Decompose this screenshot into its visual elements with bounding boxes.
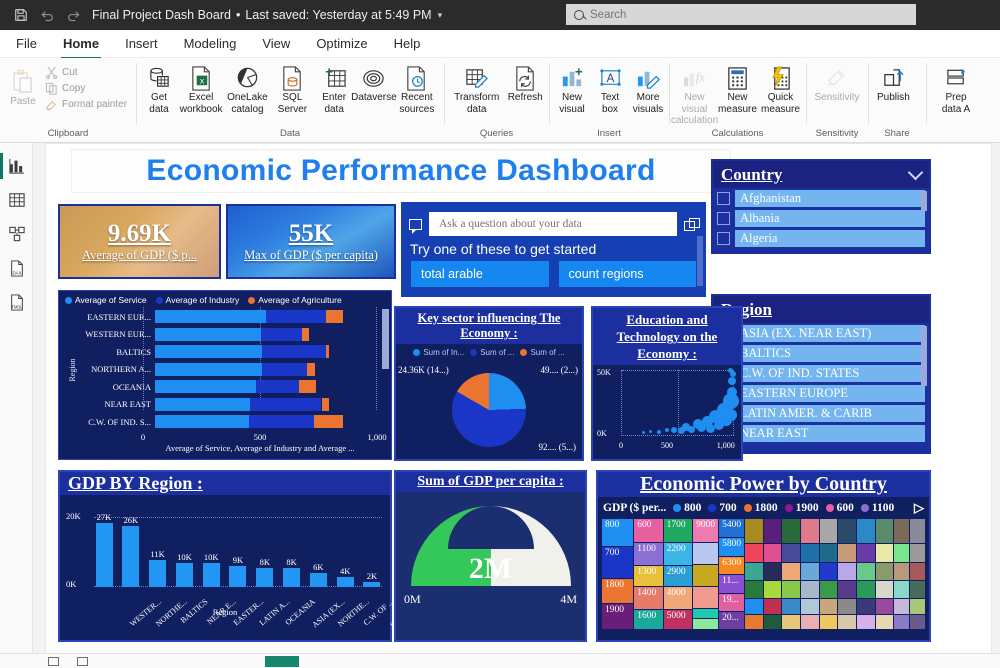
slicer-region[interactable]: Region ASIA (EX. NEAR EAST) BALTICS C.W.… [711,294,931,454]
legend-label: 1900 [796,502,819,514]
redo-icon[interactable] [60,4,86,26]
ribbon-group-prepdata: Prep data A [926,58,986,142]
paste-label: Paste [10,96,36,108]
sensitivity-button[interactable]: Sensitivity [811,62,863,106]
chart-title: Economic Power by Country [598,472,929,497]
qna-subtitle: Try one of these to get started [401,236,706,261]
excel-workbook-label: Excel workbook [180,92,223,115]
legend-title: GDP ($ per... [603,502,666,514]
treemap-cell[interactable]: 1800 [602,579,633,603]
tmdl-view-icon[interactable]: TMDL [0,285,33,319]
column: 6K [308,562,328,587]
treemap-cell[interactable]: 5800 [719,538,744,556]
dax-query-view-icon[interactable]: DAX [0,251,33,285]
list-item: EASTERN EUROPE [717,385,925,402]
legend-label: Sum of In... [423,348,464,357]
legend-item: Sum of ... [520,348,564,357]
chart-legend: Sum of In... Sum of ... Sum of ... [396,344,582,357]
calculator-icon [726,64,749,92]
slicer-country-title: Country [721,165,782,185]
tab-optimize[interactable]: Optimize [314,32,369,55]
excel-workbook-button[interactable]: x Excel workbook [179,62,223,117]
chart-sum-gdp-gauge[interactable]: Sum of GDP per capita : 2M 0M 4M [394,470,587,642]
bar-row: BALTICS [71,344,377,359]
quick-measure-label: Quick measure [761,92,800,115]
ribbon-group-insert: New visual A Text box More visuals Inser… [549,58,669,142]
chart-legend: GDP ($ per... 800 700 1800 1900 600 1100… [598,497,929,519]
legend-item: Average of Agriculture [248,295,341,305]
slicer-item-label[interactable]: LATIN AMER. & CARIB [735,405,925,422]
slicer-item-label[interactable]: Albania [735,210,925,227]
tab-home[interactable]: Home [61,32,101,55]
ribbon-group-sensitivity: Sensitivity Sensitivity [806,58,868,142]
column: 8K [282,557,302,587]
database-icon [147,64,172,92]
enter-data-label: Enter data [319,92,349,115]
gauge-max-label: 4M [560,592,577,607]
legend-label: Average of Agriculture [258,295,341,305]
legend-item: Sum of ... [470,348,514,357]
slicer-item-label[interactable]: NEAR EAST [735,425,925,442]
column: 10K [201,552,221,587]
y-tick: 20K [66,511,81,521]
treemap-cell[interactable]: 1900 [602,604,633,629]
title-separator: • [236,8,240,22]
document-title[interactable]: Final Project Dash Board [92,8,231,22]
slicer-scrollbar[interactable] [921,191,927,211]
table-view-icon[interactable] [0,183,33,217]
get-data-button[interactable]: Get data [141,62,177,117]
chart-plot-area: 2M 0M 4M [396,492,585,622]
quick-measure-button[interactable]: Quick measure [760,62,801,117]
column: 10K [174,552,194,587]
ribbon-group-clipboard: Paste Cut Copy Format painter Clipboard [0,58,136,142]
format-painter-button[interactable]: Format painter [45,98,127,111]
tab-help[interactable]: Help [392,32,423,55]
chart-education-technology[interactable]: Education and Technology on the Economy … [591,306,743,461]
prep-data-button[interactable]: Prep data A [931,62,981,117]
treemap-cell[interactable]: 800 [602,519,633,546]
chart-scrollbar[interactable] [382,309,389,369]
tab-insert[interactable]: Insert [123,32,160,55]
chart-plot-area: 50K 0K [597,368,737,450]
treemap-cell[interactable]: 9000 [693,519,718,542]
legend-item: 800 [673,502,701,514]
slicer-item-label[interactable]: Algeria [735,230,925,247]
x-axis-ticks: 0 500 1,000 [143,432,377,443]
list-item: NEAR EAST [717,425,925,442]
chart-plot-area: 20K 0K 27K 26K 11K 10K 10K 9K 8K 8K 6K 4… [64,499,386,607]
legend-item: 1800 [744,502,778,514]
onelake-icon [235,64,260,92]
checkbox[interactable] [717,232,730,245]
list-item: ASIA (EX. NEAR EAST) [717,325,925,342]
qna-suggestion-count-regions[interactable]: count regions [559,261,697,287]
bar-row: C.W. OF IND. S... [71,414,377,429]
new-measure-label: New measure [718,92,757,115]
chart-plot-area: Region EASTERN EUR... WESTERN EUR... BAL… [59,307,391,432]
bar-row: OCEANIA [71,379,377,394]
publish-button[interactable]: Publish [873,62,914,106]
legend-item: 1100 [861,502,894,514]
y-tick: 0K [597,429,607,438]
clipboard-group-label: Clipboard [5,128,131,140]
tab-modeling[interactable]: Modeling [182,32,239,55]
kpi-value: 55K [289,221,333,247]
view-rail: DAX TMDL [0,143,33,653]
chart-economic-power-treemap[interactable]: Economic Power by Country GDP ($ per... … [596,470,931,642]
refresh-button[interactable]: Refresh [506,62,544,106]
gauge-min-label: 0M [404,592,421,607]
slicer-country-header[interactable]: Country [713,161,929,188]
chart-plot-area: 24.36K (14...) 49.... (2...) 92.... (5..… [396,357,582,455]
sensitivity-label: Sensitivity [815,92,860,104]
treemap-cell[interactable]: 1100 [634,543,662,565]
legend-label: Sum of ... [530,348,564,357]
legend-item: 1900 [785,502,819,514]
search-input[interactable] [590,9,908,21]
bar-row: EASTERN EUR... [71,309,377,324]
checkbox[interactable] [717,192,730,205]
dashboard-title-banner[interactable]: Economic Performance Dashboard [71,149,731,193]
report-view-icon[interactable] [0,149,33,183]
slicer-item-label[interactable]: C.W. OF IND. STATES [735,365,925,382]
legend-label: 1100 [872,502,894,514]
more-visuals-label: More visuals [633,92,664,115]
kpi-card-average-gdp[interactable]: 9.69K Average of GDP ($ p... [58,204,221,279]
chevron-down-icon[interactable]: ▾ [438,10,443,21]
text-box-label: Text box [596,92,624,115]
legend-label: Average of Industry [166,295,240,305]
copy-button[interactable]: Copy [45,82,127,95]
legend-label: 700 [719,502,736,514]
chart-gdp-by-region[interactable]: GDP BY Region : 20K 0K 27K 26K 11K 10K 1… [58,470,392,642]
slicer-item-label[interactable]: EASTERN EUROPE [735,385,925,402]
treemap-cell[interactable]: 600 [634,519,662,542]
sql-server-button[interactable]: SQL Server [272,62,314,117]
treemap-cell[interactable]: 2200 [664,543,692,565]
enter-data-button[interactable]: Enter data [315,62,353,117]
dataverse-button[interactable]: Dataverse [355,62,393,106]
x-tick: 0 [141,432,145,442]
new-visual-label: New visual [558,92,586,115]
treemap-cell[interactable]: 1700 [664,519,692,542]
chart-title: GDP BY Region : [60,472,390,495]
slicer-country[interactable]: Country Afghanistan Albania Algeria [711,159,931,254]
text-box-button[interactable]: A Text box [592,62,628,117]
more-visuals-button[interactable]: More visuals [630,62,666,117]
new-measure-button[interactable]: New measure [717,62,758,117]
slicer-country-list[interactable]: Afghanistan Albania Algeria [713,188,929,250]
search-icon [574,10,584,20]
new-visual-button[interactable]: New visual [554,62,590,117]
column: 11K [148,549,168,587]
transform-data-icon [464,64,489,92]
treemap-cell[interactable]: 11... [719,575,744,593]
prepdata-group-label [931,139,981,140]
pie-data-label: 92.... (5...) [539,442,577,452]
sensitivity-group-label: Sensitivity [811,128,863,140]
recent-sources-label: Recent sources [399,92,435,115]
kpi-label: Average of GDP ($ p... [82,248,197,263]
enter-data-icon [322,64,347,92]
y-axis-label: Region [68,358,77,381]
ribbon-group-calculations: fx New visual calculation New measure Qu… [669,58,806,142]
treemap-cell[interactable]: 19... [719,594,744,612]
new-visual-icon [560,64,585,92]
legend-label: Average of Service [75,295,147,305]
recent-sources-icon [405,64,428,92]
bar-row: WESTERN EUR... [71,327,377,342]
paste-button[interactable]: Paste [5,62,41,110]
excel-icon: x [190,64,213,92]
sql-server-icon [281,64,304,92]
scatter-points [621,370,734,436]
legend-label: Sum of ... [480,348,514,357]
slicer-scrollbar[interactable] [921,326,927,386]
treemap-cell[interactable]: 4000 [664,587,692,609]
slicer-region-header[interactable]: Region [713,296,929,323]
report-canvas[interactable]: Economic Performance Dashboard 9.69K Ave… [45,143,992,655]
workspace: DAX TMDL Economic Performance Dashboard … [0,143,1000,668]
svg-text:x: x [199,75,204,85]
list-item: C.W. OF IND. STATES [717,365,925,382]
insert-group-label: Insert [554,128,664,140]
qna-visual[interactable]: Try one of these to get started total ar… [401,202,706,297]
column: 8K [255,557,275,587]
x-tick: 0 [619,441,623,450]
cut-button[interactable]: Cut [45,66,127,79]
column: 27K [94,512,114,587]
refresh-label: Refresh [508,92,543,104]
svg-text:fx: fx [696,70,705,84]
ribbon-tabs: File Home Insert Modeling View Optimize … [0,30,1000,58]
legend-item: Sum of In... [413,348,464,357]
treemap-cell[interactable]: 6300 [719,557,744,575]
x-axis-label: Average of Service, Average of Industry … [143,443,377,453]
recent-sources-button[interactable]: Recent sources [395,62,439,117]
transform-data-label: Transform data [453,92,500,115]
copy-label: Copy [62,83,85,94]
y-tick: 50K [597,368,611,377]
cut-label: Cut [62,67,78,78]
treemap-cell[interactable] [693,587,718,609]
slicer-item-label[interactable]: ASIA (EX. NEAR EAST) [735,325,925,342]
chart-key-sector-pie[interactable]: Key sector influencing The Economy : Sum… [394,306,584,461]
pie-graphic [452,373,526,447]
chart-legend: Average of Service Average of Industry A… [59,291,391,307]
checkbox[interactable] [717,212,730,225]
treemap-cell[interactable]: 5000 [664,610,692,629]
svg-text:A: A [606,72,614,84]
calculations-group-label: Calculations [674,128,801,140]
treemap-cell[interactable] [693,543,718,565]
refresh-icon [514,64,537,92]
ribbon-group-queries: Transform data Refresh Queries [444,58,549,142]
column: 9K [228,555,248,587]
dataverse-label: Dataverse [351,92,397,104]
kpi-value: 9.69K [108,221,171,247]
qna-suggestion-total-arable[interactable]: total arable [411,261,549,287]
new-visual-calculation-label: New visual calculation [671,92,718,127]
treemap-cells: 800 700 1800 1900 600 1100 1300 1400 160… [602,519,925,629]
chart-sector-by-region[interactable]: Average of Service Average of Industry A… [58,290,392,460]
queries-group-label: Queries [449,128,544,140]
model-view-icon[interactable] [0,217,33,251]
treemap-cell[interactable] [693,565,718,586]
chart-title: Education and Technology on the Economy … [593,308,741,365]
x-tick: 500 [254,432,267,442]
x-tick: 1,000 [717,441,735,450]
ribbon-group-data: Get data x Excel workbook OneLake catalo… [136,58,444,142]
tab-view[interactable]: View [260,32,292,55]
bar-row: NORTHERN A... [71,362,377,377]
saved-status: Last saved: Yesterday at 5:49 PM [245,8,431,22]
page-thumbnail-icon[interactable] [77,657,88,666]
slicer-item-label[interactable]: BALTICS [735,345,925,362]
ribbon: Paste Cut Copy Format painter Clipboard [0,58,1000,143]
qna-question-input[interactable] [439,218,667,230]
treemap-cell[interactable]: 2900 [664,566,692,587]
undo-icon[interactable] [34,4,60,26]
legend-label: 600 [837,502,854,514]
more-visuals-icon [636,64,661,92]
page-title: Economic Performance Dashboard [146,154,655,188]
quick-measure-icon [769,64,792,92]
chart-title: Sum of GDP per capita : [396,472,585,492]
paste-icon [10,68,36,96]
legend-label: 1800 [755,502,778,514]
treemap-cell[interactable]: 700 [602,547,633,578]
transform-data-button[interactable]: Transform data [449,62,504,117]
treemap-cell[interactable] [693,609,718,618]
legend-item: Average of Industry [156,295,240,305]
dataverse-icon [361,64,386,92]
slicer-region-list[interactable]: ASIA (EX. NEAR EAST) BALTICS C.W. OF IND… [713,323,929,450]
chart-title: Key sector influencing The Economy : [396,308,582,344]
column: 4K [335,566,355,587]
sensitivity-icon [825,64,850,92]
qna-input-wrapper[interactable] [429,212,677,236]
text-box-icon: A [598,64,623,92]
pie-data-label: 49.... (2...) [541,365,579,375]
tab-file[interactable]: File [14,32,39,55]
qna-scrollbar[interactable] [697,236,703,286]
treemap-cell[interactable]: 1400 [634,587,662,609]
x-tick: 1,000 [367,432,386,442]
expand-icon[interactable] [684,218,698,231]
svg-text:TMDL: TMDL [11,304,23,309]
list-item: Algeria [717,230,925,247]
prep-data-icon [944,64,969,92]
bar-row: NEAR EAST [71,397,377,412]
svg-text:DAX: DAX [12,270,21,275]
column: 2K [362,571,382,587]
page-thumbnail-icon[interactable] [48,657,59,666]
title-bar: Final Project Dash Board • Last saved: Y… [0,0,1000,30]
list-item: LATIN AMER. & CARIB [717,405,925,422]
onelake-catalog-label: OneLake catalog [227,92,268,115]
kpi-card-max-gdp[interactable]: 55K Max of GDP ($ per capita) [226,204,396,279]
format-painter-label: Format painter [62,99,127,110]
status-bar [0,653,1000,668]
save-icon[interactable] [8,4,34,26]
legend-item: 600 [826,502,854,514]
y-tick: 0K [66,579,76,589]
legend-item: 700 [708,502,736,514]
treemap-cell[interactable] [693,619,718,629]
prep-data-label: Prep data A [935,92,977,115]
chat-bubble-icon [409,219,422,230]
list-item: Albania [717,210,925,227]
x-tick: 500 [661,441,673,450]
treemap-cell[interactable]: 1600 [634,610,662,629]
page-tab-active[interactable] [265,656,299,667]
sql-server-label: SQL Server [276,92,310,115]
visual-calculation-icon: fx [682,64,707,92]
ribbon-group-share: Publish Share [868,58,926,142]
legend-item: Average of Service [65,295,147,305]
publish-icon [881,64,906,92]
list-item: BALTICS [717,345,925,362]
chevron-down-icon[interactable] [908,164,924,180]
column: 26K [121,515,141,587]
treemap-cell[interactable]: 20... [719,612,744,629]
data-group-label: Data [141,128,439,140]
new-visual-calculation-button[interactable]: fx New visual calculation [674,62,715,129]
pie-data-label: 24.36K (14...) [398,365,449,375]
get-data-label: Get data [145,92,173,115]
slicer-item-label[interactable]: Afghanistan [735,190,925,207]
column-series: 27K 26K 11K 10K 10K 9K 8K 8K 6K 4K 2K [94,513,382,587]
legend-next-icon[interactable]: ▷ [914,500,924,516]
list-item: Afghanistan [717,190,925,207]
search-box[interactable] [566,4,916,25]
publish-label: Publish [877,92,910,104]
onelake-catalog-button[interactable]: OneLake catalog [225,62,269,117]
gauge-value: 2M [396,552,585,586]
treemap-cell[interactable]: 5400 [719,519,744,537]
share-group-label: Share [873,128,921,140]
treemap-cell[interactable]: 1300 [634,566,662,587]
kpi-label: Max of GDP ($ per capita) [244,248,378,263]
legend-label: 800 [684,502,701,514]
